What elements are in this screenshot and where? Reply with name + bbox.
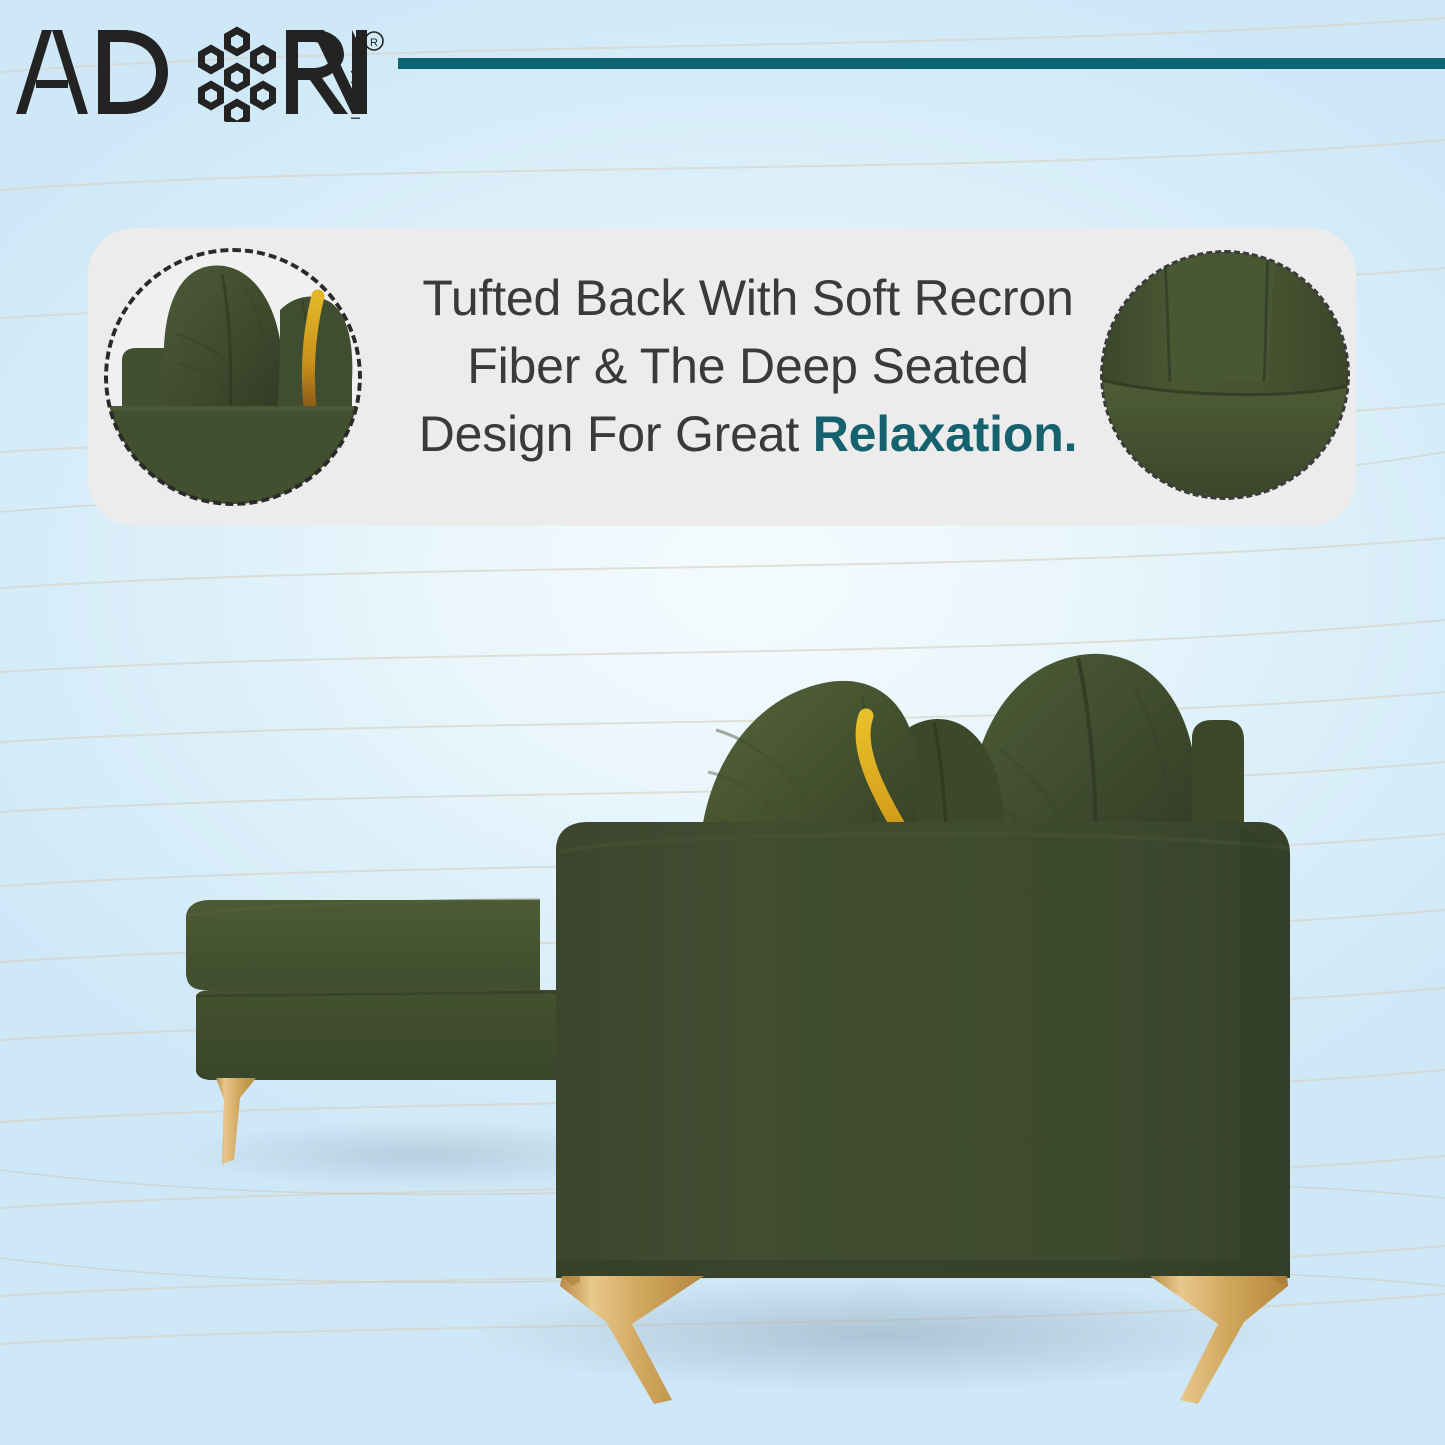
headline-line-2: Fiber & The Deep Seated bbox=[378, 332, 1118, 400]
headline-accent: Relaxation bbox=[813, 406, 1064, 462]
honeycomb-icon bbox=[198, 27, 276, 123]
banner-headline: Tufted Back With Soft Recron Fiber & The… bbox=[378, 264, 1118, 468]
brand-logo[interactable]: INDIA R bbox=[12, 22, 382, 122]
thumbnail-tufted-back[interactable] bbox=[104, 248, 362, 506]
logo-sub-label: INDIA bbox=[348, 63, 363, 120]
headline-prefix: Design For Great bbox=[419, 406, 813, 462]
brand-divider-rule bbox=[398, 58, 1445, 69]
sofa-back-panel bbox=[556, 822, 1290, 1278]
registered-trademark-icon: R bbox=[365, 32, 383, 50]
headline-line-1: Tufted Back With Soft Recron bbox=[378, 264, 1118, 332]
thumbnail-deep-seat[interactable] bbox=[1100, 250, 1350, 500]
svg-text:R: R bbox=[370, 37, 378, 49]
headline-suffix: . bbox=[1064, 406, 1078, 462]
headline-line-3: Design For Great Relaxation. bbox=[378, 400, 1118, 468]
header: INDIA R bbox=[0, 0, 1445, 150]
feature-banner: Tufted Back With Soft Recron Fiber & The… bbox=[88, 228, 1356, 526]
product-sofa-image bbox=[0, 560, 1445, 1445]
poster-canvas: INDIA R bbox=[0, 0, 1445, 1445]
